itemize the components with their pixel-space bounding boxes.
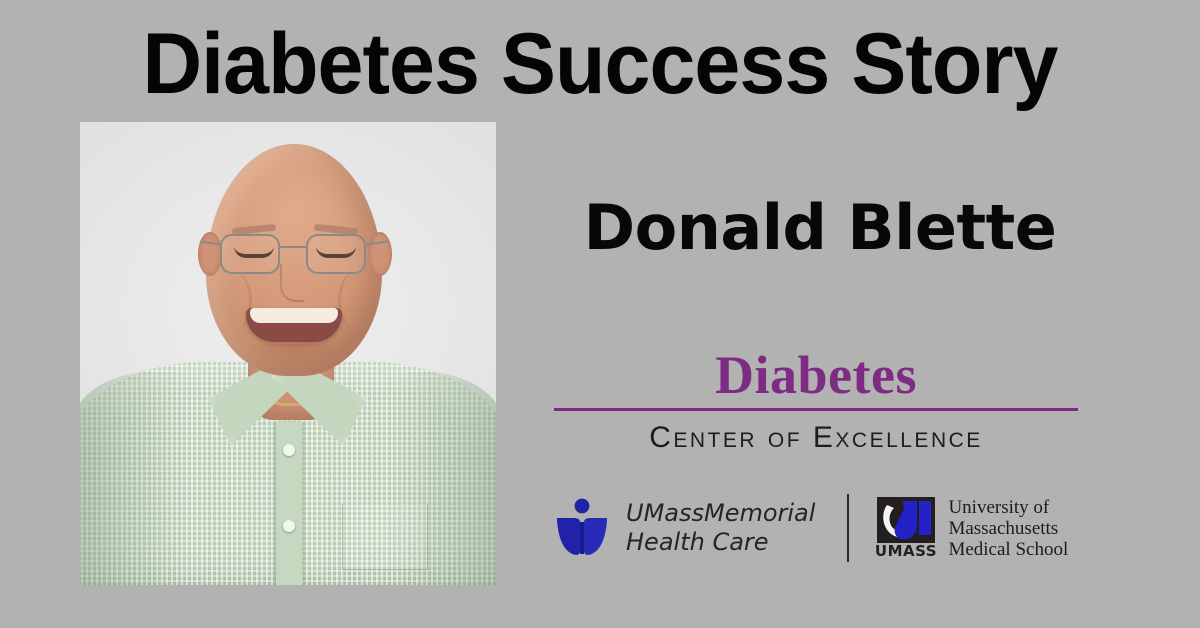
smile-line-right: [338, 272, 372, 330]
shirt-button: [283, 520, 295, 532]
umass-medical-line2: Massachusetts: [948, 518, 1068, 539]
chin-shadow: [246, 344, 342, 366]
nose: [280, 264, 304, 302]
partner-divider: [847, 494, 849, 562]
doe-divider-rule: [554, 408, 1078, 411]
eyeglasses-lens-right: [306, 234, 366, 274]
umass-memorial-wordmark: UMassMemorial Health Care: [626, 499, 815, 557]
subject-photo: [80, 122, 496, 585]
umass-medical-line1: University of: [948, 497, 1068, 518]
eyeglasses-bridge: [280, 246, 306, 248]
umass-medical-wordmark: University of Massachusetts Medical Scho…: [948, 497, 1068, 561]
umass-memorial-line2: Health Care: [626, 528, 815, 557]
partner-logo-bar: UMassMemorial Health Care UMASS Universi…: [554, 482, 1102, 574]
shirt-pocket: [342, 504, 428, 570]
doe-wordmark: Diabetes: [554, 346, 1078, 404]
teeth: [250, 308, 338, 323]
eyeglasses-lens-left: [220, 234, 280, 274]
umass-medical-school-logo: UMASS University of Massachusetts Medica…: [873, 495, 1068, 561]
shoulder-left: [80, 372, 188, 585]
page-title: Diabetes Success Story: [24, 18, 1176, 110]
ear-right: [368, 232, 392, 276]
diabetes-center-of-excellence-logo: Diabetes Center of Excellence: [554, 346, 1078, 455]
doe-subline: Center of Excellence: [554, 421, 1078, 455]
umass-memorial-line1: UMassMemorial: [626, 499, 815, 528]
svg-text:UMASS: UMASS: [875, 542, 937, 560]
mouth: [246, 308, 342, 342]
umass-shield-icon: UMASS: [873, 495, 939, 561]
umass-medical-line3: Medical School: [948, 539, 1068, 560]
umass-memorial-tulip-icon: [554, 498, 610, 558]
social-card: Diabetes Success Story: [0, 0, 1200, 628]
umass-memorial-logo: UMassMemorial Health Care: [554, 498, 815, 558]
ear-left: [198, 232, 222, 276]
subject-name: Donald Blette: [520, 193, 1120, 263]
shirt-button: [283, 444, 295, 456]
